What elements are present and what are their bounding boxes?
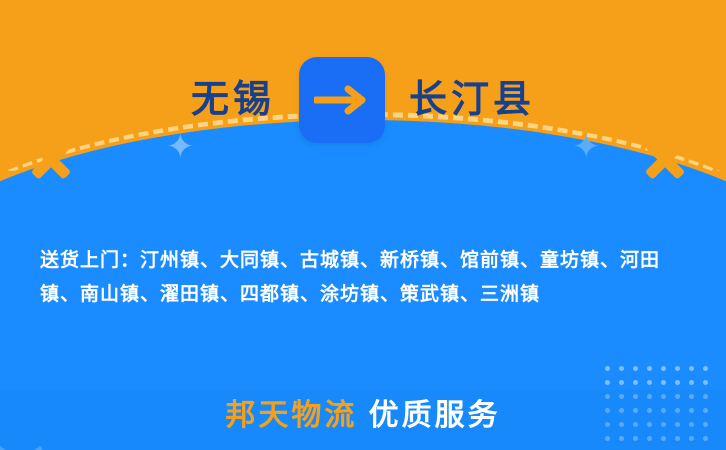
route-heading: 无锡 长汀县 xyxy=(0,52,726,148)
destination-city: 长汀县 xyxy=(409,81,535,119)
footer-slogan: 邦天物流 优质服务 xyxy=(0,390,726,434)
arrow-right-icon xyxy=(299,57,385,143)
delivery-areas-text: 送货上门：汀州镇、大同镇、古城镇、新桥镇、馆前镇、童坊镇、河田镇、南山镇、濯田镇… xyxy=(40,244,698,312)
brand-name: 邦天物流 xyxy=(225,399,357,432)
origin-city: 无锡 xyxy=(191,81,275,119)
logistics-banner: ✦ ✦ 无锡 长汀县 送货上门：汀州镇、大同镇、古城镇、新桥镇、馆前镇、童坊镇、… xyxy=(0,0,726,450)
service-slogan: 优质服务 xyxy=(369,399,501,432)
